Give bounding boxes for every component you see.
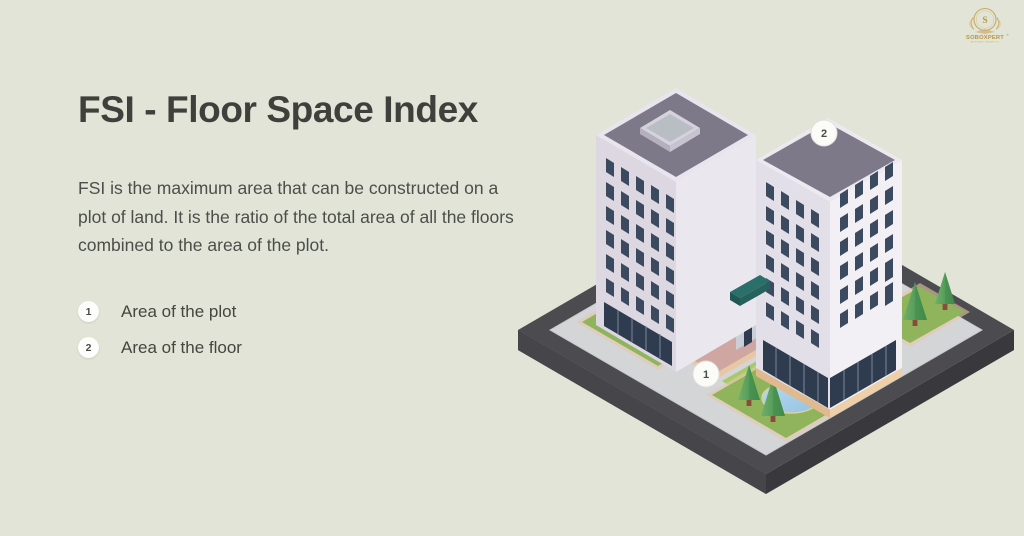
svg-text:S: S (982, 16, 987, 26)
tower-left (596, 88, 756, 372)
legend-badge-1: 1 (78, 301, 99, 322)
description-text: FSI is the maximum area that can be cons… (78, 174, 518, 259)
legend-badge-2: 2 (78, 337, 99, 358)
legend-label-2: Area of the floor (121, 338, 242, 358)
page-title: FSI - Floor Space Index (78, 88, 548, 132)
legend-item-1: 1 Area of the plot (78, 301, 548, 322)
marker-2[interactable]: 2 (811, 120, 837, 146)
isometric-scene: 1 2 (508, 30, 1024, 520)
legend-label-1: Area of the plot (121, 302, 236, 322)
marker-1[interactable]: 1 (693, 361, 719, 387)
marker-2-label: 2 (821, 128, 827, 140)
isometric-building-illustration: 1 2 (508, 30, 1024, 520)
text-column: FSI - Floor Space Index FSI is the maxim… (78, 88, 548, 373)
legend-list: 1 Area of the plot 2 Area of the floor (78, 301, 548, 358)
legend-item-2: 2 Area of the floor (78, 337, 548, 358)
marker-1-label: 1 (703, 369, 709, 381)
poster-canvas: FSI - Floor Space Index FSI is the maxim… (0, 0, 1024, 536)
tower-right (756, 118, 902, 418)
